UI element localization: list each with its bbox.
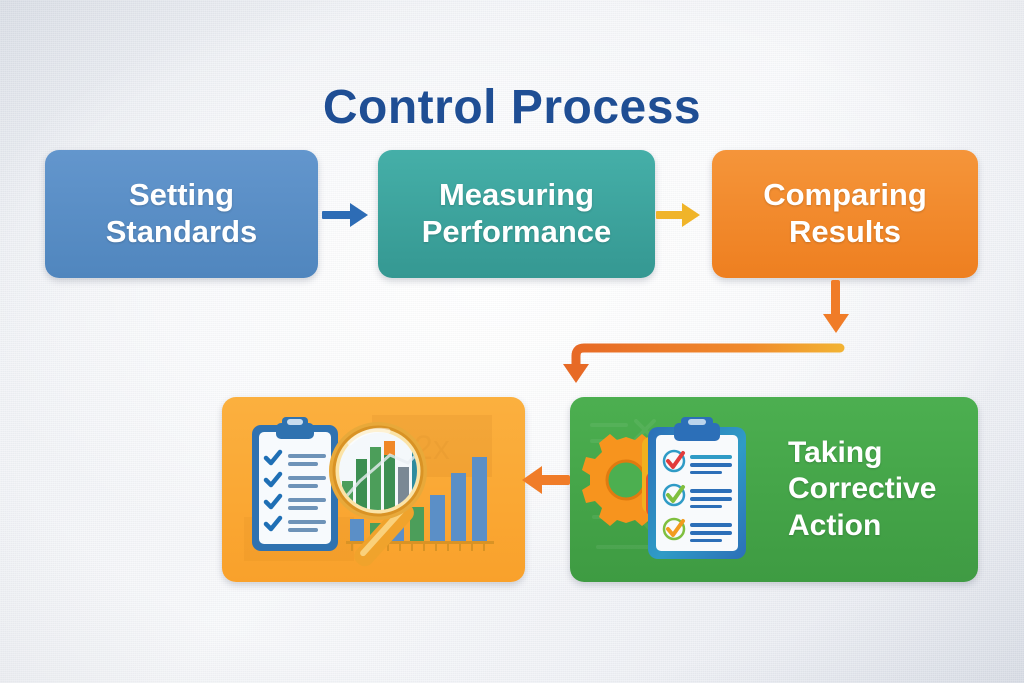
svg-text:2x: 2x (414, 429, 450, 467)
flow-step-taking-corrective-action[interactable]: Taking Corrective Action (570, 397, 978, 582)
flow-step-label: Comparing Results (763, 177, 927, 250)
flow-step-setting-standards[interactable]: Setting Standards (45, 150, 318, 278)
arrow-right-icon-measuring-to-comparing (650, 190, 716, 240)
clipboard-checklist-gear-icon (582, 409, 788, 571)
diagram-canvas: Control Process Setting Standards Measur… (0, 0, 1024, 683)
flow-step-measuring-performance[interactable]: Measuring Performance (378, 150, 655, 278)
flow-step-label: Taking Corrective Action (788, 435, 936, 545)
flow-step-measuring-visual[interactable]: 2x (222, 397, 525, 582)
page-title: Control Process (0, 80, 1024, 135)
flow-step-label: Setting Standards (106, 177, 258, 250)
arrow-left-icon-corrective-to-measuring (518, 452, 576, 508)
arrow-elbow-icon-comparing-to-corrective (540, 276, 880, 396)
card-background-pattern: 2x (222, 397, 525, 582)
flow-step-comparing-results[interactable]: Comparing Results (712, 150, 978, 278)
clipboard-magnifier-barchart-icon (238, 411, 510, 569)
flow-step-label: Measuring Performance (422, 177, 612, 250)
arrow-right-icon-setting-to-measuring (316, 190, 382, 240)
